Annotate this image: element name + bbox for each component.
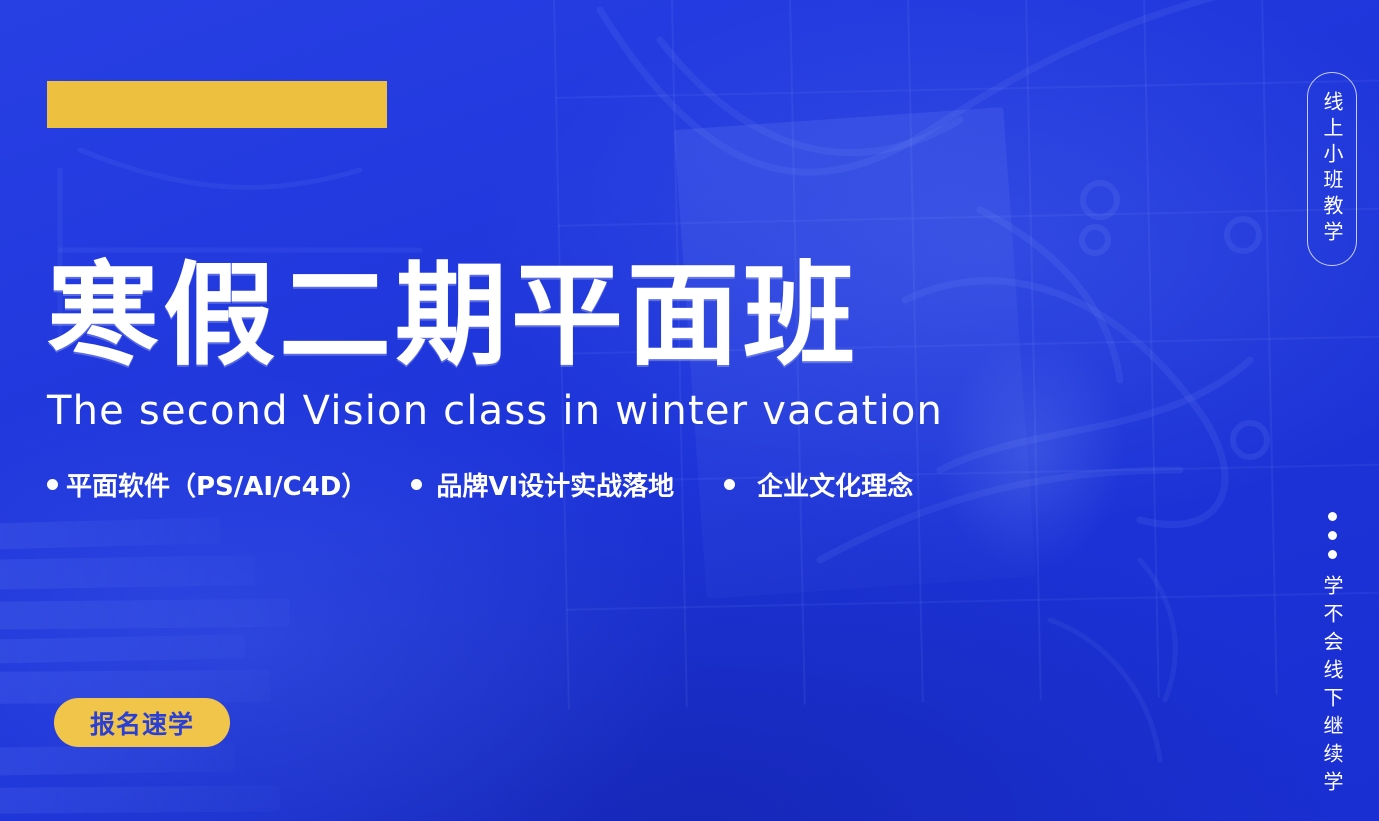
feature-label: 品牌VI设计实战落地	[436, 466, 674, 503]
feature-list: 平面软件（PS/AI/C4D） 品牌VI设计实战落地 企业文化理念	[47, 466, 913, 503]
list-item: 平面软件（PS/AI/C4D）	[47, 466, 367, 503]
background-stacked-books	[0, 520, 400, 821]
online-class-badge: 线上小班教学	[1307, 72, 1357, 266]
guarantee-slogan: 学不会线下继续学	[1309, 512, 1355, 799]
headline-block: 寒假二期平面班 The second Vision class in winte…	[47, 258, 947, 434]
feature-label: 企业文化理念	[757, 466, 913, 503]
bullet-dot-icon	[724, 479, 735, 490]
list-item: 品牌VI设计实战落地	[411, 466, 674, 503]
bullet-dot-icon	[411, 479, 422, 490]
background-hand	[908, 316, 1182, 675]
bullet-dot-icon	[47, 479, 58, 490]
page-subtitle: The second Vision class in winter vacati…	[47, 388, 947, 434]
feature-label: 平面软件（PS/AI/C4D）	[66, 466, 367, 503]
page-title: 寒假二期平面班	[47, 258, 947, 374]
accent-bar	[47, 81, 387, 128]
promo-poster: 寒假二期平面班 The second Vision class in winte…	[0, 0, 1379, 821]
signup-button[interactable]: 报名速学	[54, 698, 230, 747]
slogan-dots-icon	[1328, 512, 1337, 559]
list-item: 企业文化理念	[724, 466, 913, 503]
guarantee-slogan-label: 学不会线下继续学	[1322, 575, 1342, 799]
online-class-badge-label: 线上小班教学	[1322, 91, 1342, 247]
